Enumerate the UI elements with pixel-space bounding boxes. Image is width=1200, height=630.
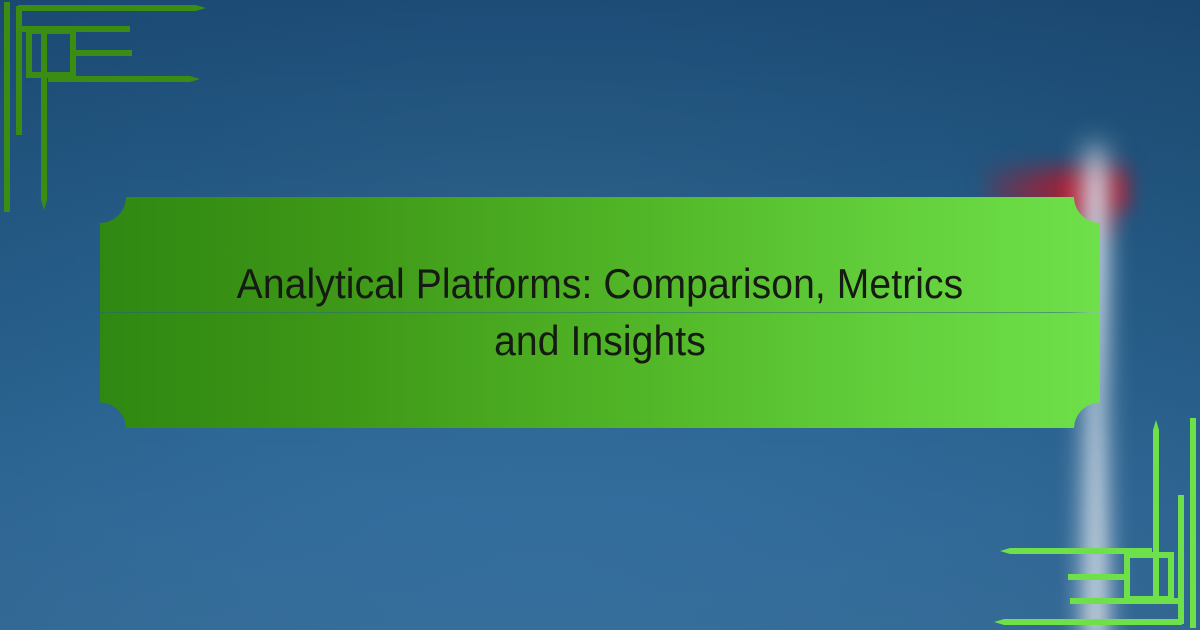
page-title: Analytical Platforms: Comparison, Metric…	[135, 197, 1065, 428]
title-banner: Analytical Platforms: Comparison, Metric…	[100, 197, 1100, 428]
poster-canvas: Analytical Platforms: Comparison, Metric…	[0, 0, 1200, 630]
